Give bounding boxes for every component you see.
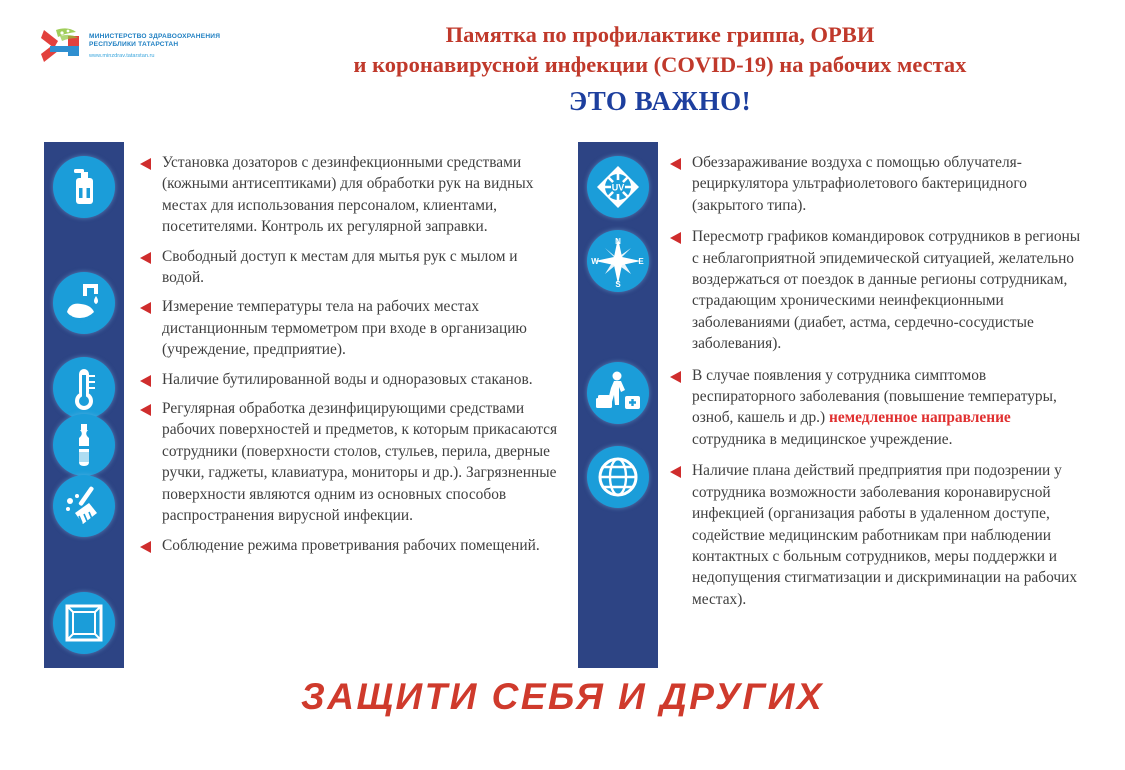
poster-root: МИНИСТЕРСТВО ЗДРАВООХРАНЕНИЯ РЕСПУБЛИКИ … xyxy=(0,0,1125,770)
bullet-arrow-icon xyxy=(140,541,151,553)
ministry-logo-line2: РЕСПУБЛИКИ ТАТАРСТАН xyxy=(89,41,220,49)
uv-air-sterilizer-icon: UV xyxy=(587,156,649,218)
list-item-text: Наличие плана действий предприятия при п… xyxy=(692,460,1088,610)
list-item: В случае появления у сотрудника симптомо… xyxy=(670,365,1088,451)
broom-cleaning-icon xyxy=(53,475,115,537)
urgent-referral-highlight: немедленное направление xyxy=(829,409,1011,426)
ministry-logo-url: www.minzdrav.tatarstan.ru xyxy=(89,53,220,59)
svg-text:W: W xyxy=(591,257,599,266)
poster-title-block: Памятка по профилактике гриппа, ОРВИ и к… xyxy=(250,20,1070,117)
svg-text:S: S xyxy=(615,280,621,289)
bullet-arrow-icon xyxy=(140,302,151,314)
list-item-text: Соблюдение режима проветривания рабочих … xyxy=(162,535,562,556)
list-item-text: Регулярная обработка дезинфицирующими ср… xyxy=(162,398,562,526)
medical-travel-icon xyxy=(587,362,649,424)
svg-text:N: N xyxy=(615,237,621,246)
globe-icon xyxy=(587,446,649,508)
bullet-arrow-icon xyxy=(670,371,681,383)
water-bottle-icon xyxy=(53,414,115,476)
bullet-arrow-icon xyxy=(670,158,681,170)
handwashing-tap-icon xyxy=(53,272,115,334)
list-item-text-composite: В случае появления у сотрудника симптомо… xyxy=(692,365,1088,451)
right-bullet-list: Обеззараживание воздуха с помощью облуча… xyxy=(670,142,1088,610)
poster-footer: ЗАЩИТИ СЕБЯ И ДРУГИХ xyxy=(0,676,1125,718)
bullet-arrow-icon xyxy=(670,232,681,244)
compass-icon: N S W E xyxy=(587,230,649,292)
list-item: Регулярная обработка дезинфицирующими ср… xyxy=(140,398,562,526)
left-bullet-list: Установка дозаторов с дезинфекционными с… xyxy=(140,142,562,556)
list-item-text: Свободный доступ к местам для мытья рук … xyxy=(162,246,562,289)
list-item-text: Наличие бутилированной воды и одноразовы… xyxy=(162,369,562,390)
poster-title-line1: Памятка по профилактике гриппа, ОРВИ xyxy=(250,20,1070,50)
list-item-text: Измерение температуры тела на рабочих ме… xyxy=(162,296,562,360)
left-icon-rail xyxy=(44,142,124,668)
list-item: Наличие бутилированной воды и одноразовы… xyxy=(140,369,562,390)
list-item: Пересмотр графиков командировок сотрудни… xyxy=(670,226,1088,354)
bullet-arrow-icon xyxy=(140,158,151,170)
bullet-arrow-icon xyxy=(140,404,151,416)
list-item-text: Обеззараживание воздуха с помощью облуча… xyxy=(692,152,1088,216)
list-item: Соблюдение режима проветривания рабочих … xyxy=(140,535,562,556)
list-item-text-after: сотрудника в медицинское учреждение. xyxy=(692,431,952,448)
bullet-arrow-icon xyxy=(140,375,151,387)
poster-title-important: ЭТО ВАЖНО! xyxy=(250,86,1070,117)
tatarstan-health-ministry-logo-icon xyxy=(38,24,84,68)
svg-text:UV: UV xyxy=(612,183,625,193)
list-item: Обеззараживание воздуха с помощью облуча… xyxy=(670,152,1088,216)
footer-slogan: ЗАЩИТИ СЕБЯ И ДРУГИХ xyxy=(301,676,824,718)
list-item-text: Пересмотр графиков командировок сотрудни… xyxy=(692,226,1088,354)
sanitizer-dispenser-icon xyxy=(53,156,115,218)
list-item: Свободный доступ к местам для мытья рук … xyxy=(140,246,562,289)
right-icon-rail: UV N S W E xyxy=(578,142,658,668)
bullet-arrow-icon xyxy=(140,252,151,264)
open-window-ventilation-icon xyxy=(53,592,115,654)
list-item: Установка дозаторов с дезинфекционными с… xyxy=(140,152,562,238)
svg-text:E: E xyxy=(638,257,644,266)
ministry-logo-text: МИНИСТЕРСТВО ЗДРАВООХРАНЕНИЯ РЕСПУБЛИКИ … xyxy=(89,33,220,60)
thermometer-icon xyxy=(53,357,115,419)
list-item: Измерение температуры тела на рабочих ме… xyxy=(140,296,562,360)
bullet-arrow-icon xyxy=(670,466,681,478)
list-item: Наличие плана действий предприятия при п… xyxy=(670,460,1088,610)
ministry-logo: МИНИСТЕРСТВО ЗДРАВООХРАНЕНИЯ РЕСПУБЛИКИ … xyxy=(38,22,210,70)
poster-header: МИНИСТЕРСТВО ЗДРАВООХРАНЕНИЯ РЕСПУБЛИКИ … xyxy=(0,0,1125,128)
poster-title-line2: и коронавирусной инфекции (COVID-19) на … xyxy=(250,50,1070,80)
list-item-text: Установка дозаторов с дезинфекционными с… xyxy=(162,152,562,238)
ministry-logo-line1: МИНИСТЕРСТВО ЗДРАВООХРАНЕНИЯ xyxy=(89,33,220,41)
